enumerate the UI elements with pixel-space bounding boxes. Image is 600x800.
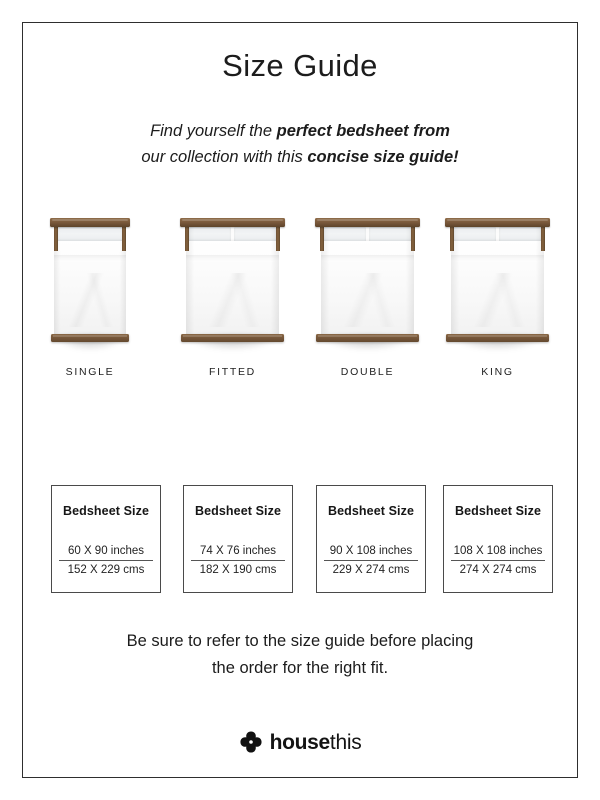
- duvet: [186, 241, 279, 334]
- subtitle-line-1-plain: Find yourself the: [150, 122, 277, 140]
- headboard-rail: [50, 218, 130, 227]
- bed-post-right: [276, 225, 280, 251]
- bedding: [186, 224, 279, 334]
- subtitle-line-2-bold: concise size guide!: [307, 148, 458, 166]
- bed-label: DOUBLE: [315, 366, 420, 378]
- measurement-cms: 152 X 229 cms: [59, 561, 153, 576]
- measurement-inches: 74 X 76 inches: [191, 545, 285, 561]
- bed-illustration: [50, 218, 130, 342]
- measurement-inches: 90 X 108 inches: [324, 545, 418, 561]
- logo-wordmark: housethis: [270, 732, 362, 753]
- page-title: Size Guide: [0, 48, 600, 84]
- size-box-measurements: 108 X 108 inches 274 X 274 cms: [451, 545, 545, 576]
- bedding: [54, 224, 125, 334]
- size-guide-page: Size Guide Find yourself the perfect bed…: [0, 0, 600, 800]
- headboard-rail: [315, 218, 420, 227]
- bed-post-left: [450, 225, 454, 251]
- size-box-heading: Bedsheet Size: [52, 504, 160, 518]
- bed-post-left: [185, 225, 189, 251]
- bed-label: KING: [445, 366, 550, 378]
- logo-wordmark-bold: house: [270, 731, 330, 754]
- bed-item-single: SINGLE: [50, 218, 130, 342]
- footboard-rail: [316, 334, 419, 342]
- bed-post-right: [122, 225, 126, 251]
- footer-note-line-1: Be sure to refer to the size guide befor…: [0, 628, 600, 655]
- bed-illustration: [315, 218, 420, 342]
- measurement-cms: 182 X 190 cms: [191, 561, 285, 576]
- headboard-rail: [445, 218, 550, 227]
- brand-logo: housethis: [0, 730, 600, 754]
- size-box-fitted: Bedsheet Size 74 X 76 inches 182 X 190 c…: [183, 485, 293, 593]
- size-box-measurements: 90 X 108 inches 229 X 274 cms: [324, 545, 418, 576]
- subtitle-line-1: Find yourself the perfect bedsheet from: [0, 118, 600, 144]
- bed-post-right: [541, 225, 545, 251]
- footboard-rail: [446, 334, 549, 342]
- subtitle-line-2: our collection with this concise size gu…: [0, 144, 600, 170]
- duvet: [451, 241, 544, 334]
- bed-item-fitted: FITTED: [180, 218, 285, 342]
- bed-illustration-row: SINGLE FITTED: [0, 218, 600, 393]
- bed-label: SINGLE: [50, 366, 130, 378]
- measurement-inches: 108 X 108 inches: [451, 545, 545, 561]
- footer-note: Be sure to refer to the size guide befor…: [0, 628, 600, 682]
- size-box-heading: Bedsheet Size: [444, 504, 552, 518]
- size-box-king: Bedsheet Size 108 X 108 inches 274 X 274…: [443, 485, 553, 593]
- bed-post-right: [411, 225, 415, 251]
- bed-item-double: DOUBLE: [315, 218, 420, 342]
- bed-item-king: KING: [445, 218, 550, 342]
- bedding: [451, 224, 544, 334]
- subtitle-line-2-plain: our collection with this: [141, 148, 307, 166]
- page-subtitle: Find yourself the perfect bedsheet from …: [0, 118, 600, 170]
- size-box-measurements: 60 X 90 inches 152 X 229 cms: [59, 545, 153, 576]
- bed-post-left: [54, 225, 58, 251]
- bed-label: FITTED: [180, 366, 285, 378]
- subtitle-line-1-bold: perfect bedsheet from: [277, 122, 450, 140]
- size-box-heading: Bedsheet Size: [184, 504, 292, 518]
- measurement-inches: 60 X 90 inches: [59, 545, 153, 561]
- headboard-rail: [180, 218, 285, 227]
- footboard-rail: [51, 334, 129, 342]
- size-box-single: Bedsheet Size 60 X 90 inches 152 X 229 c…: [51, 485, 161, 593]
- size-box-double: Bedsheet Size 90 X 108 inches 229 X 274 …: [316, 485, 426, 593]
- footboard-rail: [181, 334, 284, 342]
- measurement-cms: 229 X 274 cms: [324, 561, 418, 576]
- bed-post-left: [320, 225, 324, 251]
- footer-note-line-2: the order for the right fit.: [0, 655, 600, 682]
- size-box-measurements: 74 X 76 inches 182 X 190 cms: [191, 545, 285, 576]
- duvet: [54, 241, 125, 334]
- duvet: [321, 241, 414, 334]
- size-box-heading: Bedsheet Size: [317, 504, 425, 518]
- pinwheel-icon: [239, 730, 263, 754]
- measurement-cms: 274 X 274 cms: [451, 561, 545, 576]
- bedding: [321, 224, 414, 334]
- size-box-row: Bedsheet Size 60 X 90 inches 152 X 229 c…: [0, 485, 600, 595]
- bed-illustration: [180, 218, 285, 342]
- bed-illustration: [445, 218, 550, 342]
- logo-wordmark-light: this: [330, 731, 361, 754]
